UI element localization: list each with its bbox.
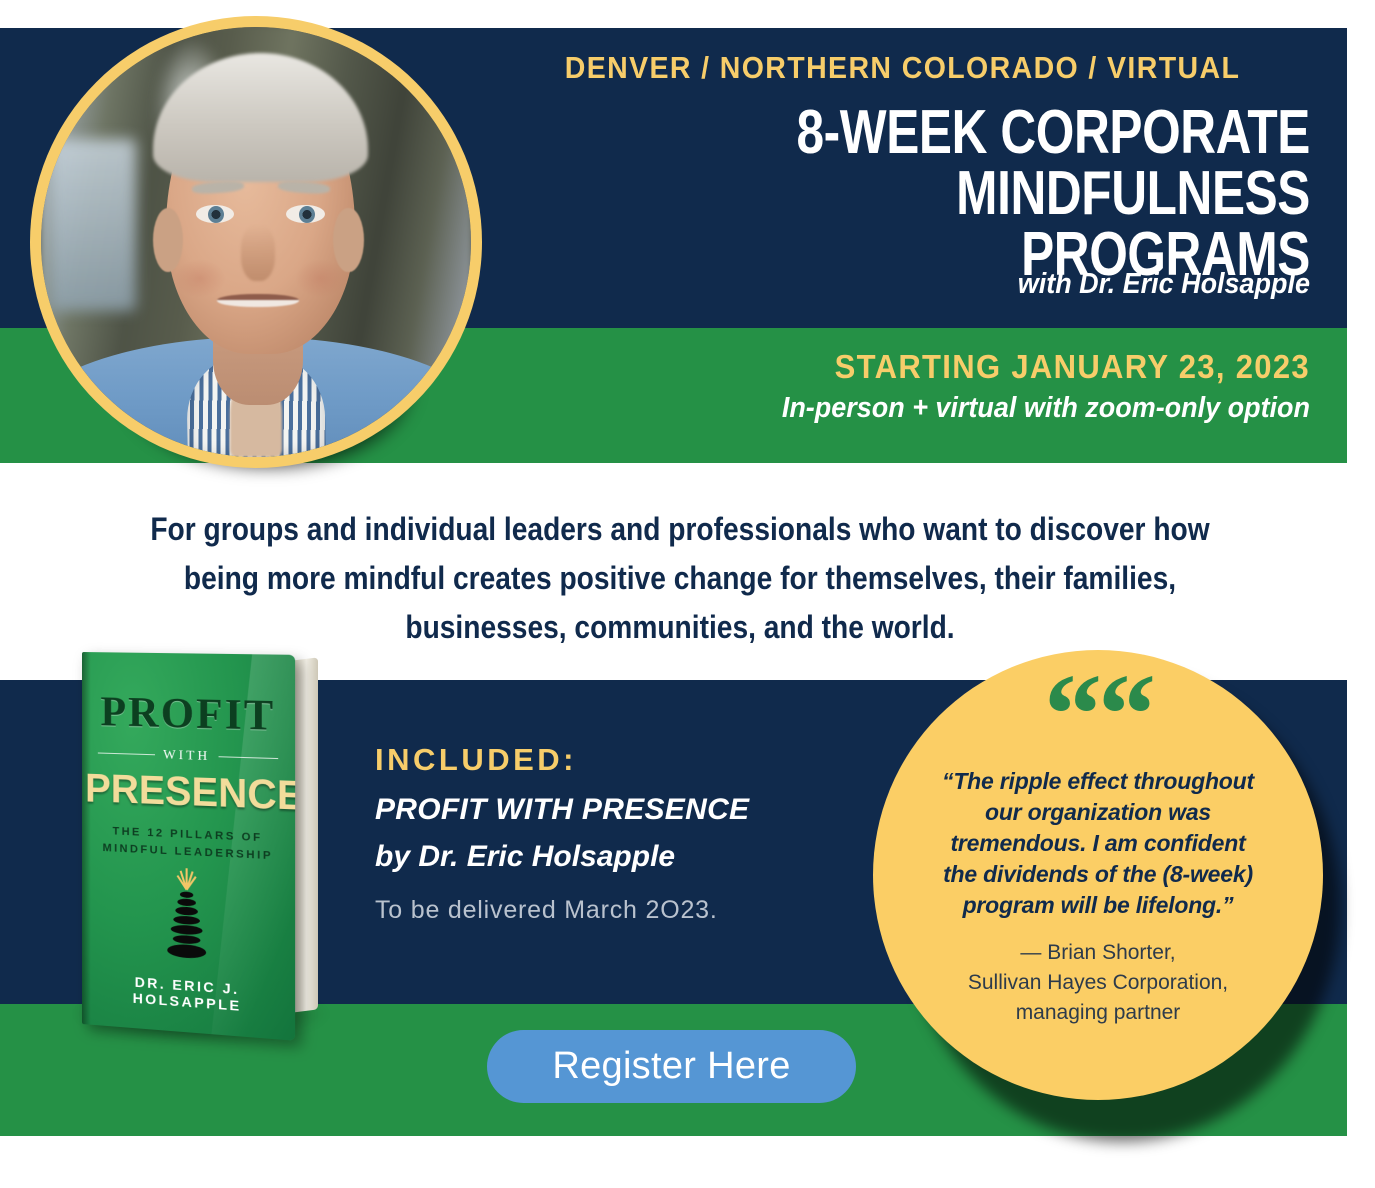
- testimonial-attribution-line-1: — Brian Shorter,: [909, 938, 1287, 968]
- testimonial-quote-line-3: tremendous. I am confident: [909, 828, 1287, 859]
- testimonial-attribution: — Brian Shorter, Sullivan Hayes Corporat…: [909, 938, 1287, 1028]
- book-title-presence: PRESENCE: [85, 766, 292, 820]
- delivery-format: In-person + virtual with zoom-only optio…: [552, 392, 1310, 425]
- book-rule-right: [219, 756, 279, 759]
- stacked-stones-icon: [151, 874, 223, 970]
- start-date: STARTING JANUARY 23, 2023: [544, 348, 1310, 386]
- intro-line-2: being more mindful creates positive chan…: [134, 554, 1225, 603]
- intro-line-1: For groups and individual leaders and pr…: [134, 505, 1225, 554]
- testimonial-card: ““ “The ripple effect throughout our org…: [873, 650, 1323, 1100]
- cheek-left: [174, 259, 226, 298]
- included-book-title: PROFIT WITH PRESENCE: [375, 793, 749, 827]
- book-title-with: WITH: [163, 746, 210, 764]
- testimonial-attribution-line-3: managing partner: [909, 998, 1287, 1028]
- flyer-canvas: DENVER / NORTHERN COLORADO / VIRTUAL 8-W…: [0, 0, 1375, 1188]
- quote-mark-icon: ““: [909, 684, 1287, 754]
- book-cover: PROFIT WITH PRESENCE THE 12 PILLARS OF M…: [82, 652, 295, 1041]
- testimonial-quote-line-2: our organization was: [909, 797, 1287, 828]
- page-title: 8-WEEK CORPORATE MINDFULNESS PROGRAMS: [658, 103, 1310, 285]
- register-here-button[interactable]: Register Here: [487, 1030, 856, 1103]
- book-image: PROFIT WITH PRESENCE THE 12 PILLARS OF M…: [68, 648, 358, 1048]
- testimonial-quote-line-5: program will be lifelong.”: [909, 890, 1287, 921]
- testimonial-quote: “The ripple effect throughout our organi…: [909, 766, 1287, 921]
- iris-right: [299, 206, 315, 223]
- included-book-author: by Dr. Eric Holsapple: [375, 840, 675, 874]
- intro-paragraph: For groups and individual leaders and pr…: [134, 505, 1225, 652]
- page-title-line-1: 8-WEEK CORPORATE: [658, 103, 1310, 164]
- included-label: INCLUDED:: [375, 742, 577, 778]
- book-rule-left: [98, 752, 155, 755]
- intro-line-3: businesses, communities, and the world.: [134, 603, 1225, 652]
- iris-left: [208, 206, 224, 223]
- presenter-portrait: [30, 16, 482, 468]
- location-eyebrow: DENVER / NORTHERN COLORADO / VIRTUAL: [528, 50, 1278, 86]
- book-title-profit: PROFIT: [82, 688, 295, 742]
- cheek-right: [295, 259, 347, 298]
- included-delivery-note: To be delivered March 2O23.: [375, 896, 718, 925]
- nose: [241, 225, 275, 281]
- testimonial-quote-line-1: “The ripple effect throughout: [909, 766, 1287, 797]
- mouth: [217, 294, 299, 308]
- portrait-photo: [41, 27, 471, 457]
- testimonial-attribution-line-2: Sullivan Hayes Corporation,: [909, 968, 1287, 998]
- background-window: [50, 139, 136, 311]
- presenter-name: with Dr. Eric Holsapple: [552, 268, 1310, 301]
- testimonial-quote-line-4: the dividends of the (8-week): [909, 859, 1287, 890]
